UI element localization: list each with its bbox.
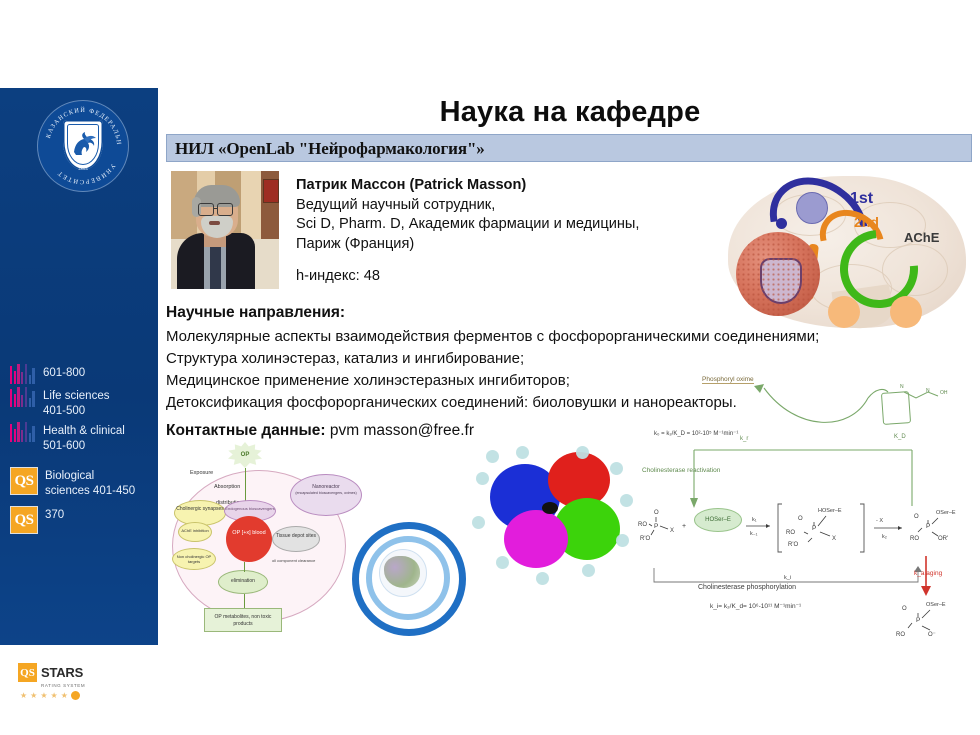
label-first: 1st <box>850 190 873 208</box>
qs-stars-word: STARS <box>41 666 83 679</box>
kfu-zilant-icon <box>68 128 98 160</box>
ranking-line: Health & clinical <box>43 424 125 439</box>
contact-info: Контактные данные: pvm masson@free.fr <box>166 422 686 440</box>
glycan-icon <box>486 450 499 463</box>
svg-text:P: P <box>926 523 930 530</box>
ranking-text: 601-800 <box>43 364 85 381</box>
person-name: Патрик Массон (Patrick Masson) <box>296 176 726 196</box>
flow-node-tissue: Tissue depot sites <box>272 526 320 552</box>
star-icon: ★ <box>61 692 68 700</box>
ranking-line: 601-800 <box>43 366 85 381</box>
flow-node-nanoreactor: Nanoreactor (encapsulated bioscavengers,… <box>290 474 362 516</box>
active-site-core <box>542 502 558 514</box>
lab-name-bar: НИЛ «OpenLab "Нейрофармакология"» <box>166 134 972 162</box>
ranking-line: Life sciences <box>43 389 109 404</box>
star-icon: ★ <box>40 692 47 700</box>
glycan-icon <box>582 564 595 577</box>
glycan-icon <box>536 572 549 585</box>
ranking-line: sciences 401-450 <box>45 484 135 499</box>
svg-text:P: P <box>654 523 658 530</box>
ranking-line: 401-500 <box>43 404 109 419</box>
svg-text:O: O <box>654 510 659 516</box>
svg-text:+: + <box>682 523 686 530</box>
flow-label-exposure: Exposure <box>190 470 213 476</box>
qs-stars-rating-row: ★ ★ ★ ★ ★ <box>18 691 106 700</box>
ranking-line: 370 <box>45 508 64 523</box>
svg-text:R'O: R'O <box>788 542 798 548</box>
svg-text:HOSer–E: HOSer–E <box>818 508 842 514</box>
ranking-row-qs-biological: QS Biological sciences 401-450 <box>0 467 158 499</box>
glycan-icon <box>620 494 633 507</box>
svg-text:O⁻: O⁻ <box>928 632 936 638</box>
ranking-text: Health & clinical 501-600 <box>43 422 125 454</box>
ranking-text: 370 <box>45 506 64 523</box>
qs-stars-dot-icon <box>71 691 80 700</box>
flow-node-metabolites: OP metabolites, non toxic products <box>204 608 282 632</box>
person-bio: Патрик Массон (Patrick Masson) Ведущий н… <box>296 176 726 287</box>
ranking-text: Life sciences 401-500 <box>43 387 109 419</box>
presentation-slide: КАЗАНСКИЙ ФЕДЕРАЛЬНЫЙ УНИВЕРСИТЕТ 1804 6… <box>0 0 980 735</box>
the-logo-icon <box>10 364 36 384</box>
svg-text:P: P <box>812 525 816 532</box>
ranking-row-the-overall: 601-800 <box>0 364 158 384</box>
svg-text:RO: RO <box>638 522 647 528</box>
flow-node-elimination: elimination <box>218 570 268 594</box>
flow-node-op: OP <box>228 442 262 468</box>
qs-stars-subtitle: RATING SYSTEM <box>41 683 106 688</box>
glycan-icon <box>610 462 623 475</box>
svg-text:P: P <box>916 617 920 624</box>
aged-conjugate: O OSer–E RO O⁻ P <box>888 596 978 656</box>
svg-text:OSer–E: OSer–E <box>926 602 946 608</box>
svg-text:k₁: k₁ <box>752 517 757 523</box>
svg-text:OSer–E: OSer–E <box>936 510 956 516</box>
liposome-nanoreactor-rings <box>352 522 452 622</box>
the-logo-icon <box>10 387 36 407</box>
flow-node-blood: OP [+x] blood <box>226 516 272 562</box>
synapse-orange <box>828 296 860 328</box>
ranking-row-the-life-sciences: Life sciences 401-500 <box>0 387 158 419</box>
svg-text:OR': OR' <box>938 536 948 542</box>
glycan-icon <box>496 556 509 569</box>
contact-email[interactable]: pvm masson@free.fr <box>330 422 474 439</box>
photo-picture-frame <box>263 179 279 203</box>
page-title: Наука на кафедре <box>170 96 970 129</box>
svg-text:R'O: R'O <box>640 536 650 542</box>
label-ache: AChE <box>904 230 939 245</box>
flow-node-ache-inhibition: AChE inhibition <box>178 522 212 542</box>
glasses-icon <box>197 203 235 214</box>
ranking-line: 501-600 <box>43 439 125 454</box>
svg-text:N: N <box>926 388 930 394</box>
qs-stars-mark-icon: QS <box>18 663 37 682</box>
person-position: Ведущий научный сотрудник, <box>296 196 726 216</box>
cholinesterase-phosphorylation-scheme: Phosphoryl oxime N OH N k₀ = k₂/K_D = 10… <box>636 374 972 644</box>
the-logo-icon <box>10 422 36 442</box>
lab-name: НИЛ «OpenLab "Нейрофармакология"» <box>167 135 971 159</box>
flow-label-absorption: Absorption <box>214 484 240 490</box>
svg-text:O: O <box>902 606 907 612</box>
star-icon: ★ <box>20 692 27 700</box>
star-icon: ★ <box>51 692 58 700</box>
nanoparticle-vesicle <box>736 232 820 316</box>
person-degrees: Sci D, Pharm. D, Академик фармации и мед… <box>296 215 726 235</box>
qs-stars-badge: QS STARS RATING SYSTEM ★ ★ ★ ★ ★ <box>12 658 112 704</box>
svg-text:- X: - X <box>876 518 883 524</box>
glycan-icon <box>472 516 485 529</box>
glycan-icon <box>576 446 589 459</box>
label-second: 2nd <box>854 214 879 230</box>
svg-text:k₋₁: k₋₁ <box>750 531 758 537</box>
svg-text:k_i: k_i <box>784 575 791 581</box>
glycan-icon <box>516 446 529 459</box>
ranking-text: Biological sciences 401-450 <box>45 467 135 499</box>
subunit-magenta <box>504 510 568 568</box>
sidebar: КАЗАНСКИЙ ФЕДЕРАЛЬНЫЙ УНИВЕРСИТЕТ 1804 6… <box>0 88 158 645</box>
label-kd: K_D <box>894 434 906 440</box>
svg-text:RO: RO <box>896 632 905 638</box>
photo-mouth <box>209 221 220 225</box>
svg-text:X: X <box>832 536 836 542</box>
label-kr: k_r <box>740 436 748 442</box>
vesicle-core <box>760 258 802 304</box>
ranking-row-the-health-clinical: Health & clinical 501-600 <box>0 422 158 454</box>
flow-node-non-cholinergic: Non cholinergic OP targets <box>172 548 216 570</box>
svg-text:RO: RO <box>786 530 795 536</box>
qs-logo-icon: QS <box>10 506 38 534</box>
svg-text:X: X <box>670 528 674 534</box>
encapsulated-enzyme <box>384 556 420 588</box>
label-phosphorylation: Cholinesterase phosphorylation <box>698 584 796 591</box>
svg-text:RO: RO <box>910 536 919 542</box>
rankings-list: 601-800 Life sciences 401-500 Health & c… <box>0 364 158 541</box>
oxime-substituent: N OH N <box>882 382 962 422</box>
label-k0: k₀ = k₂/K_D = 10²-10⁵ M⁻¹min⁻¹ <box>654 430 738 437</box>
cholinesterase-tetramer <box>470 446 636 602</box>
label-aging: k_a aging <box>914 570 942 578</box>
photo-tie <box>210 247 221 289</box>
first-pathway-dot <box>776 218 787 229</box>
flow-label-clearance: oll component clearance <box>272 558 315 563</box>
flow-arrow <box>244 594 245 608</box>
svg-text:O: O <box>914 514 919 520</box>
star-icon: ★ <box>30 692 37 700</box>
glycan-icon <box>616 534 629 547</box>
ranking-line: Biological <box>45 469 135 484</box>
svg-text:N: N <box>900 384 904 390</box>
portrait-photo <box>171 171 279 289</box>
svg-text:k₂: k₂ <box>882 534 887 540</box>
svg-text:O: O <box>798 516 803 522</box>
contact-label: Контактные данные: <box>166 422 326 439</box>
research-line: Структура холинэстераз, катализ и ингиби… <box>166 348 866 370</box>
qs-logo-icon: QS <box>10 467 38 495</box>
label-reactivation: Cholinesterase reactivation <box>642 466 720 475</box>
flow-blood-label: OP [+x] blood <box>226 516 272 536</box>
glycan-icon <box>476 472 489 485</box>
label-ki-equation: k_i= k₂/K_d= 10⁶-10¹¹ M⁻¹min⁻¹ <box>710 602 801 610</box>
flow-arrow <box>244 562 245 572</box>
ranking-row-qs-overall: QS 370 <box>0 506 158 534</box>
kfu-emblem: КАЗАНСКИЙ ФЕДЕРАЛЬНЫЙ УНИВЕРСИТЕТ 1804 <box>37 100 129 192</box>
enzyme-hoser-node: HOSer–E <box>694 508 742 532</box>
person-h-index: h-индекс: 48 <box>296 267 726 287</box>
kfu-year: 1804 <box>63 166 103 171</box>
person-city: Париж (Франция) <box>296 235 726 255</box>
flow-nanoreactor-sub: (encapsulated bioscavengers, oximes) <box>291 490 361 496</box>
brain-ache-diagram: 1st 2nd AChE <box>714 168 970 340</box>
synapse-orange <box>890 296 922 328</box>
svg-text:OH: OH <box>940 390 948 396</box>
